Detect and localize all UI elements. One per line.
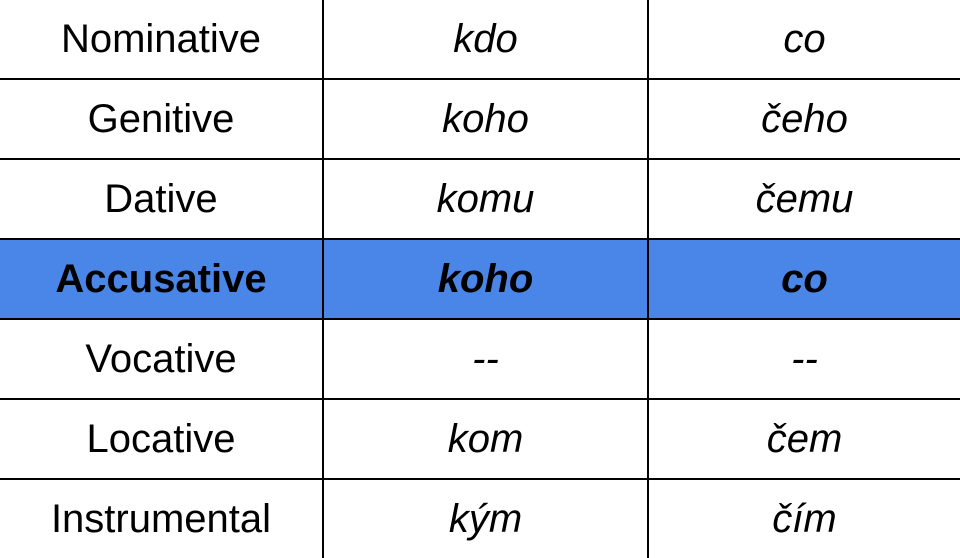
declension-table-body: Nominative kdo co Genitive koho čeho Dat… — [0, 0, 960, 558]
cell-animate-form: kdo — [323, 0, 648, 79]
cell-case-name: Vocative — [0, 319, 323, 399]
cell-animate-form: kom — [323, 399, 648, 479]
cell-animate-form: kým — [323, 479, 648, 558]
cell-case-name: Nominative — [0, 0, 323, 79]
cell-case-name: Genitive — [0, 79, 323, 159]
table-row: Nominative kdo co — [0, 0, 960, 79]
cell-animate-form: koho — [323, 239, 648, 319]
cell-case-name: Instrumental — [0, 479, 323, 558]
cell-animate-form: koho — [323, 79, 648, 159]
cell-inanimate-form: čem — [648, 399, 960, 479]
table-row: Vocative -- -- — [0, 319, 960, 399]
cell-inanimate-form: co — [648, 0, 960, 79]
table-row: Dative komu čemu — [0, 159, 960, 239]
cell-case-name: Accusative — [0, 239, 323, 319]
cell-case-name: Dative — [0, 159, 323, 239]
cell-animate-form: komu — [323, 159, 648, 239]
cell-inanimate-form: čím — [648, 479, 960, 558]
cell-inanimate-form: -- — [648, 319, 960, 399]
table-row: Locative kom čem — [0, 399, 960, 479]
cell-case-name: Locative — [0, 399, 323, 479]
table-row: Genitive koho čeho — [0, 79, 960, 159]
cell-animate-form: -- — [323, 319, 648, 399]
cell-inanimate-form: co — [648, 239, 960, 319]
table-row: Instrumental kým čím — [0, 479, 960, 558]
table-row-highlighted: Accusative koho co — [0, 239, 960, 319]
cell-inanimate-form: čemu — [648, 159, 960, 239]
cell-inanimate-form: čeho — [648, 79, 960, 159]
declension-table: Nominative kdo co Genitive koho čeho Dat… — [0, 0, 960, 558]
